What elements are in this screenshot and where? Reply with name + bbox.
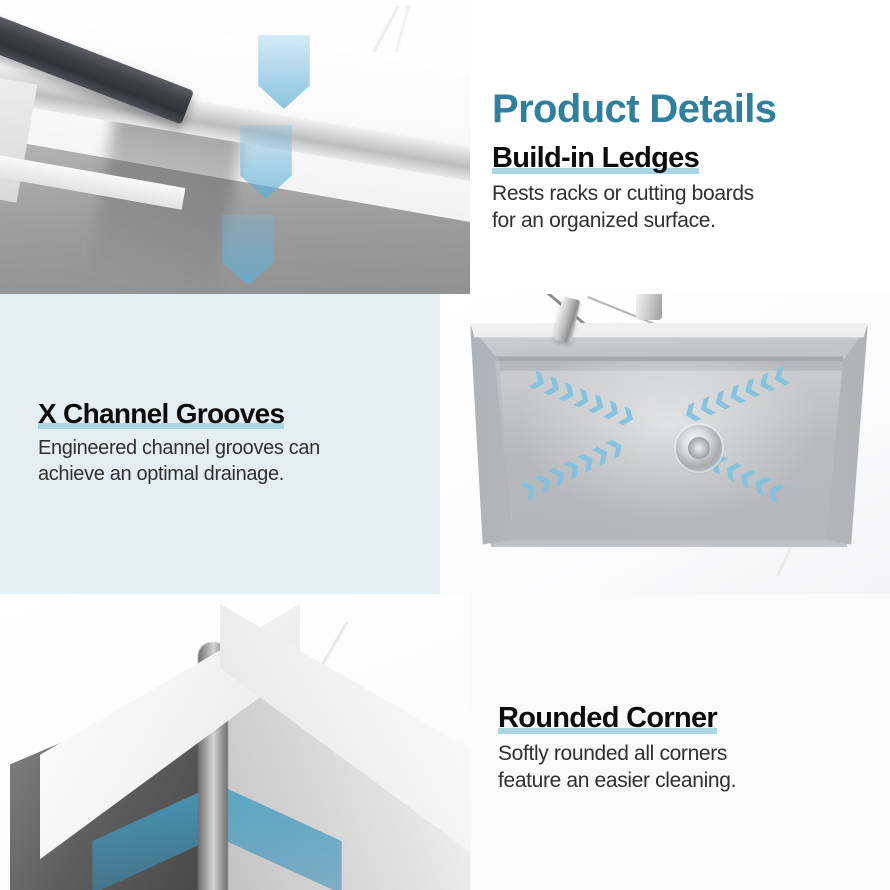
product-details-infographic: Product Details Build-in Ledges Rests ra… — [0, 0, 890, 890]
section-x-channel-grooves: X Channel Grooves Engineered channel gro… — [0, 294, 890, 594]
x-channel-grooves-heading-wrap: X Channel Grooves — [38, 398, 284, 430]
rounded-corner-body: Softly rounded all corners feature an ea… — [498, 741, 890, 795]
page-title: Product Details — [492, 88, 890, 130]
x-channel-grooves-text: X Channel Grooves Engineered channel gro… — [0, 294, 440, 594]
rounded-corner-text: Rounded Corner Softly rounded all corner… — [470, 594, 890, 890]
sink-basin-photo — [440, 294, 890, 594]
ledge-photo — [0, 0, 470, 294]
faucet-base — [636, 294, 662, 320]
x-channel-grooves-heading: X Channel Grooves — [38, 398, 284, 430]
built-in-ledges-body: Rests racks or cutting boards for an org… — [492, 181, 890, 235]
built-in-ledges-heading: Build-in Ledges — [492, 142, 699, 175]
rounded-corner-heading-wrap: Rounded Corner — [498, 702, 717, 735]
x-channel-grooves-body: Engineered channel grooves can achieve a… — [38, 436, 440, 487]
section-built-in-ledges: Product Details Build-in Ledges Rests ra… — [0, 0, 890, 294]
built-in-ledges-heading-wrap: Build-in Ledges — [492, 142, 699, 175]
rounded-corner-heading: Rounded Corner — [498, 702, 717, 735]
built-in-ledges-text: Product Details Build-in Ledges Rests ra… — [470, 0, 890, 294]
sink-drain — [676, 425, 722, 471]
section-rounded-corner: Rounded Corner Softly rounded all corner… — [0, 594, 890, 890]
rounded-corner-photo — [0, 594, 470, 890]
